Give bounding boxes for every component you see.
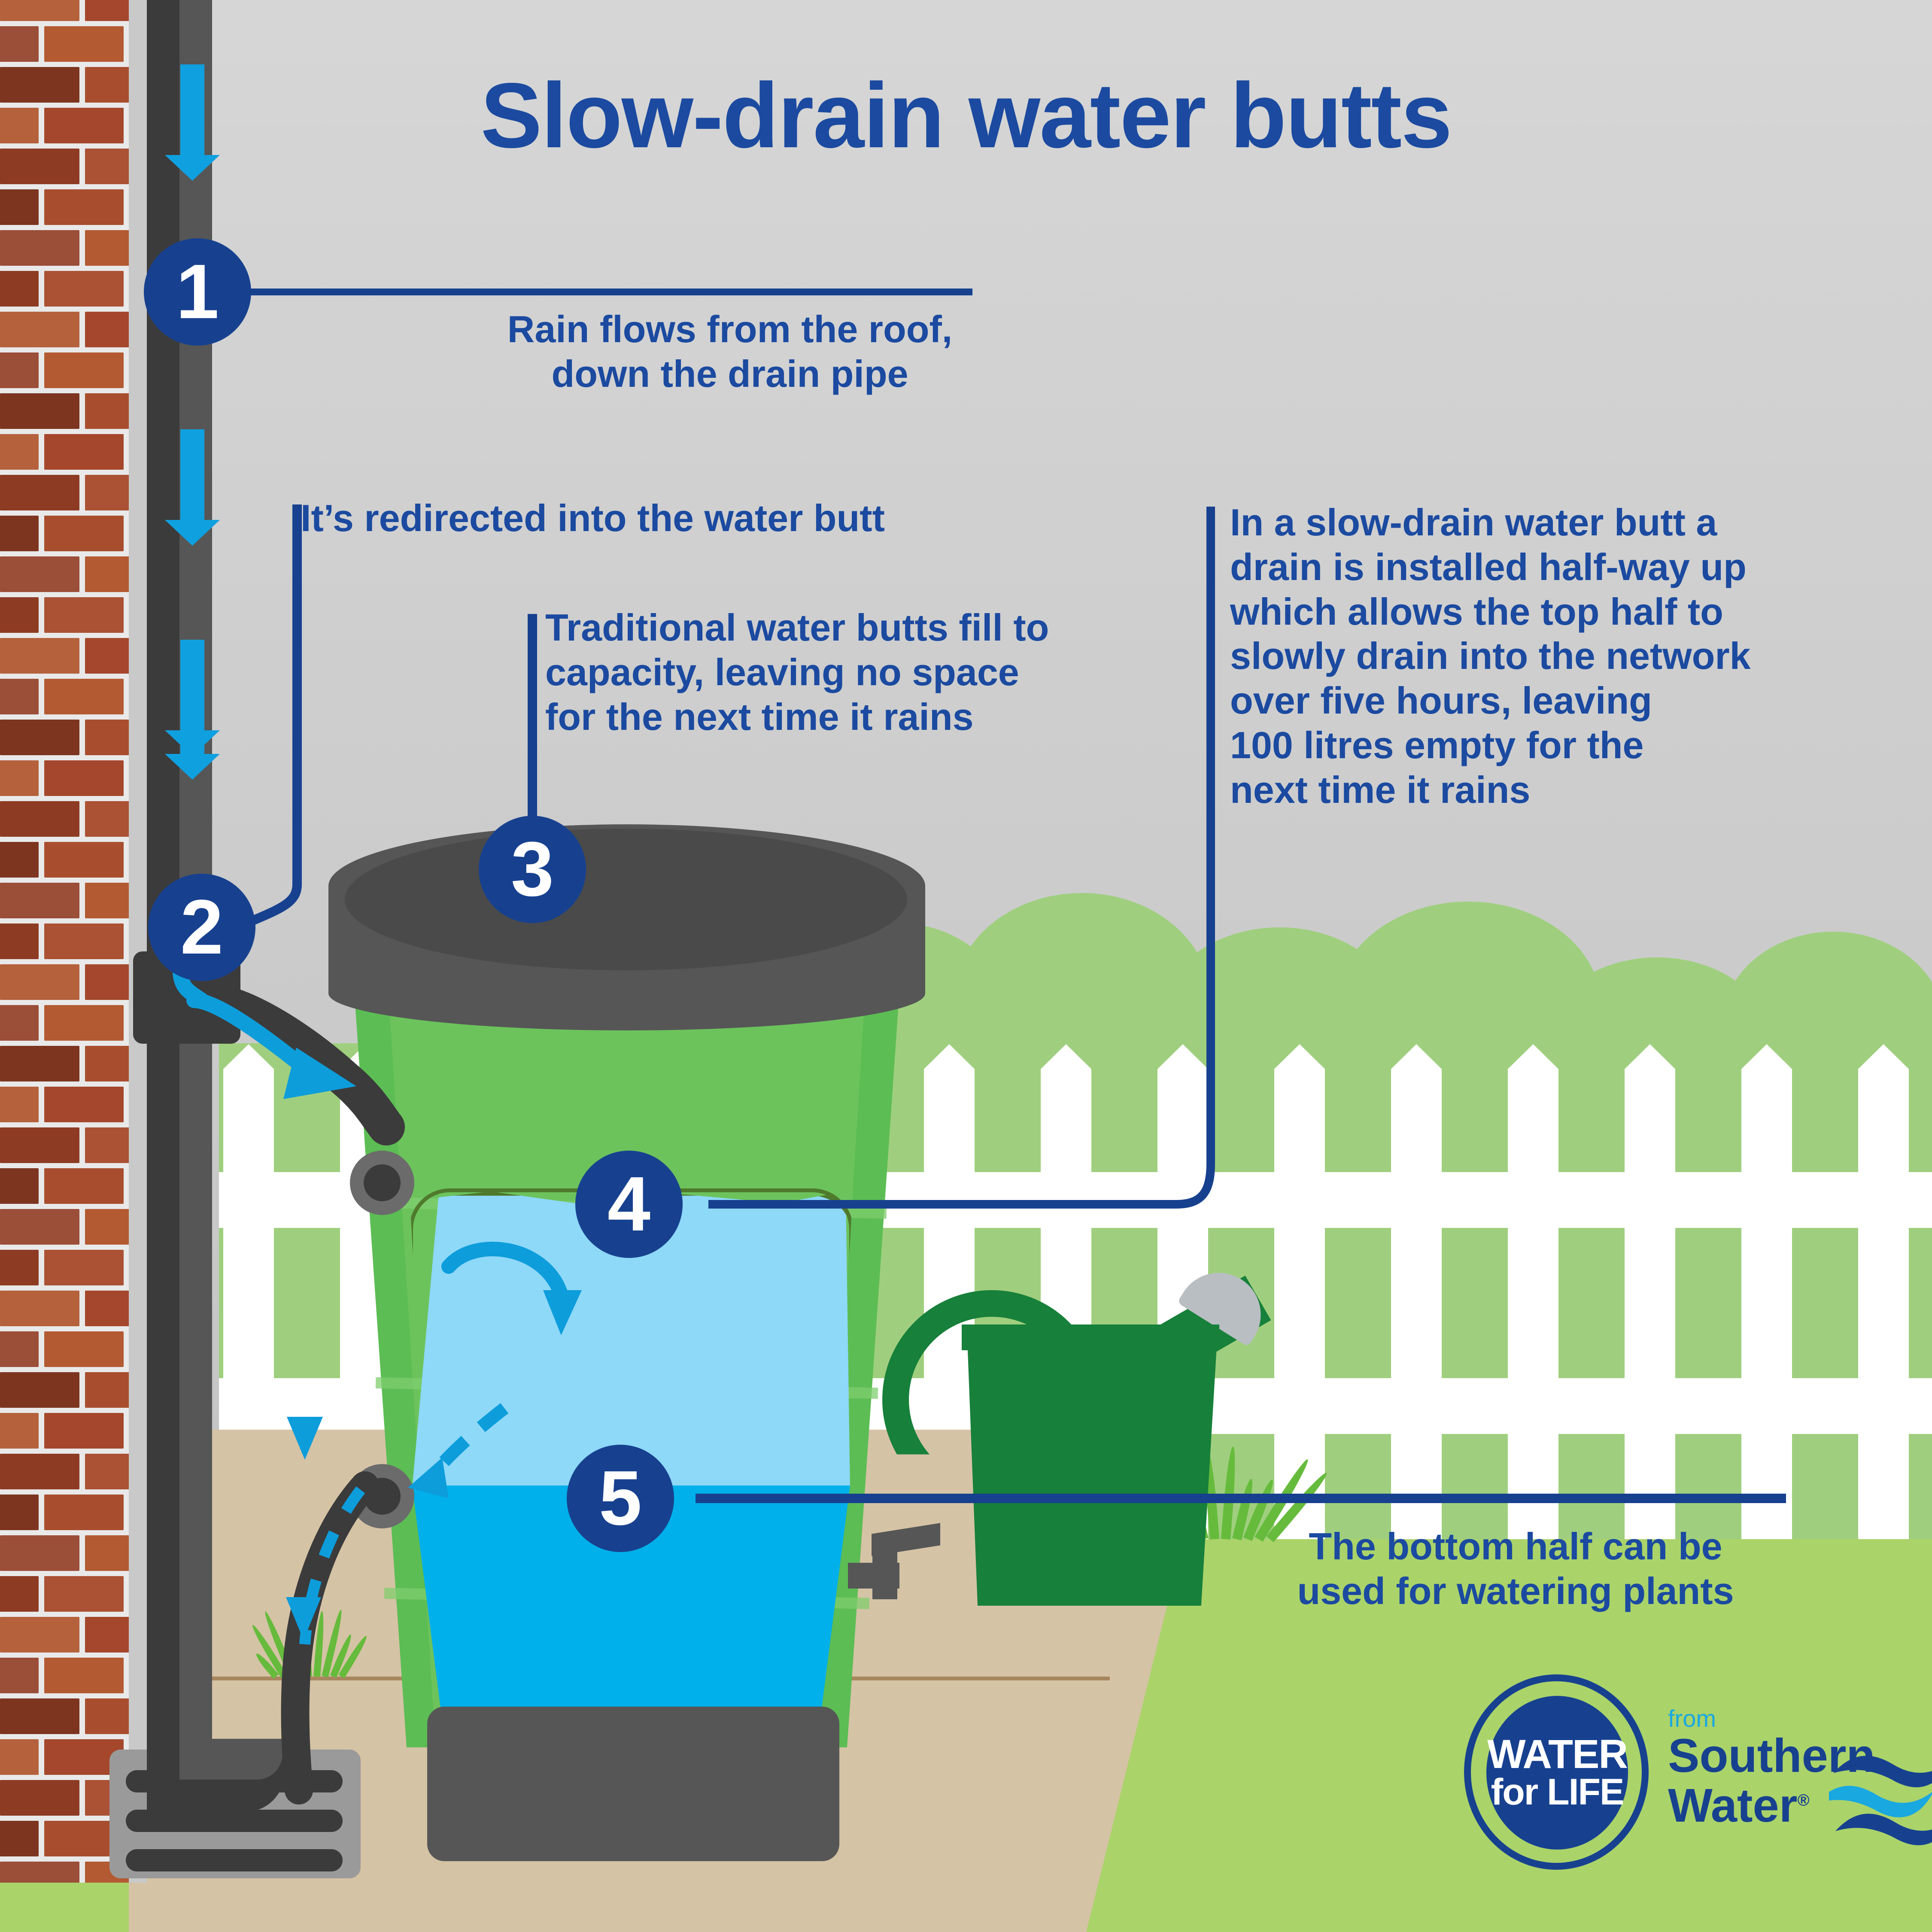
brick	[0, 1209, 79, 1245]
brick-row	[0, 554, 129, 595]
brick	[44, 1658, 124, 1693]
brick-row	[0, 1166, 129, 1206]
brick-row	[0, 1533, 129, 1574]
brick	[0, 1739, 39, 1775]
water-butt-stand	[427, 1707, 839, 1861]
brick-row	[0, 309, 129, 350]
brick	[0, 230, 79, 266]
southern-water-waves-icon	[1829, 1750, 1932, 1848]
brick	[0, 434, 39, 470]
brick-row	[0, 799, 129, 839]
brick	[44, 516, 124, 551]
step-badge-3[interactable]: 3	[479, 816, 586, 923]
brick	[0, 1250, 39, 1285]
brick	[0, 1617, 79, 1653]
brick	[85, 1127, 129, 1163]
step-badge-2[interactable]: 2	[148, 874, 255, 981]
logo-line-1: WATER	[1487, 1735, 1627, 1774]
brick-row	[0, 921, 129, 962]
callout-step-4: In a slow-drain water butt a drain is in…	[1230, 500, 1853, 812]
brick	[0, 1372, 79, 1408]
callout-step-3: Traditional water butts fill to capacity…	[545, 605, 1168, 739]
brick	[0, 26, 39, 62]
brick	[85, 0, 129, 21]
brick	[85, 964, 129, 1000]
page-title: Slow-drain water butts	[0, 62, 1932, 169]
brick	[0, 1046, 79, 1081]
brick-row	[0, 1370, 129, 1410]
brick-row	[0, 431, 129, 472]
brick-row	[0, 595, 129, 635]
logo-from-label: from	[1668, 1704, 1716, 1732]
brick	[0, 679, 39, 714]
brick-row	[0, 1125, 129, 1166]
brick	[0, 1658, 39, 1693]
brick	[0, 1535, 79, 1571]
brick	[0, 1087, 39, 1122]
brick	[0, 1331, 39, 1367]
brick-row	[0, 0, 129, 24]
step-badge-5[interactable]: 5	[567, 1445, 674, 1552]
brick-row	[0, 839, 129, 880]
brick	[0, 964, 79, 1000]
brick-row	[0, 1492, 129, 1533]
brick-row	[0, 1288, 129, 1329]
brick	[0, 1168, 39, 1204]
brick	[44, 1331, 124, 1367]
brick	[0, 556, 79, 592]
brick	[44, 26, 124, 62]
brick-row	[0, 391, 129, 431]
callout-step-1: Rain flows from the roof, down the drain…	[429, 307, 1030, 396]
brick	[0, 1576, 39, 1612]
brick	[0, 1291, 79, 1326]
brick	[85, 475, 129, 510]
brick	[0, 597, 39, 633]
brick-row	[0, 1614, 129, 1655]
brick-row	[0, 962, 129, 1002]
brick	[0, 1005, 39, 1041]
brick	[44, 352, 124, 388]
brick-row	[0, 1410, 129, 1451]
brick	[44, 1168, 124, 1204]
infographic-canvas: Slow-drain water butts 1 2 3 4 5 Rain fl…	[0, 0, 1932, 1932]
brick	[0, 352, 39, 388]
brick-row	[0, 758, 129, 799]
brick	[0, 638, 79, 674]
brick	[44, 760, 124, 796]
brick	[85, 1372, 129, 1408]
brick	[0, 1454, 79, 1489]
brick	[0, 1127, 79, 1163]
callout-step-2: It’s redirected into the water butt	[301, 496, 1030, 541]
brick	[85, 393, 129, 429]
callout-step-5: The bottom half can be used for watering…	[1236, 1524, 1795, 1613]
logo[interactable]: WATER for LIFE from Southern Water®	[1460, 1674, 1889, 1872]
brick	[85, 312, 129, 347]
brick	[0, 189, 39, 225]
brick	[44, 1087, 124, 1122]
brick-row	[0, 187, 129, 228]
rain-arrow-icon-4	[180, 704, 204, 756]
brick	[0, 1821, 39, 1856]
brick	[44, 1576, 124, 1612]
logo-line-2: for LIFE	[1491, 1774, 1624, 1810]
brick-row	[0, 1206, 129, 1247]
brick	[0, 760, 39, 796]
brick	[0, 842, 39, 878]
brick-row	[0, 1655, 129, 1696]
fence-picket	[1625, 1069, 1675, 1541]
step-badge-4[interactable]: 4	[575, 1151, 683, 1258]
wall-shadow	[129, 0, 147, 1883]
brick	[85, 1454, 129, 1489]
fence-picket	[1391, 1069, 1442, 1541]
brick	[0, 0, 79, 21]
brick	[44, 842, 124, 878]
fence-picket	[1508, 1069, 1558, 1541]
brick	[0, 1495, 39, 1530]
logo-company-line-2: Water	[1668, 1779, 1798, 1832]
brick	[44, 597, 124, 633]
brick	[0, 475, 79, 510]
brick-row	[0, 676, 129, 717]
brick	[85, 230, 129, 266]
brick-row	[0, 1574, 129, 1614]
brick-row	[0, 1696, 129, 1737]
brick	[85, 1535, 129, 1571]
brick-row	[0, 24, 129, 64]
step-badge-1[interactable]: 1	[144, 238, 251, 346]
brick	[85, 638, 129, 674]
brick	[44, 1250, 124, 1285]
brick-row	[0, 1084, 129, 1125]
brick	[0, 1862, 79, 1883]
brick-row	[0, 880, 129, 921]
brick-row	[0, 635, 129, 676]
brick	[85, 801, 129, 837]
brick	[44, 271, 124, 307]
brick	[44, 1495, 124, 1530]
water-butt	[320, 824, 934, 1855]
brick	[44, 1413, 124, 1449]
brick	[0, 1698, 79, 1734]
brick	[85, 1291, 129, 1326]
brick-row	[0, 1002, 129, 1043]
brick-row	[0, 268, 129, 309]
brick	[0, 1413, 39, 1449]
brick	[44, 679, 124, 714]
brick	[0, 271, 39, 307]
brick	[85, 720, 129, 755]
brick	[0, 801, 79, 837]
brick-row	[0, 1451, 129, 1492]
brick	[0, 923, 39, 959]
brick	[0, 883, 79, 918]
brick	[0, 393, 79, 429]
fence-picket	[1858, 1069, 1909, 1541]
brick-row	[0, 228, 129, 268]
brick	[44, 1005, 124, 1041]
brick	[0, 1780, 79, 1816]
brick	[85, 556, 129, 592]
registered-mark: ®	[1798, 1791, 1810, 1809]
brick-row	[0, 472, 129, 513]
brick-row	[0, 350, 129, 391]
brick	[85, 883, 129, 918]
brick	[0, 312, 79, 347]
brick	[85, 1617, 129, 1653]
brick-row	[0, 513, 129, 554]
logo-oval: WATER for LIFE	[1480, 1690, 1634, 1856]
brick	[44, 923, 124, 959]
brick-wall	[0, 0, 129, 1883]
brick	[85, 1698, 129, 1734]
fence-picket	[1741, 1069, 1792, 1541]
brick	[85, 1209, 129, 1245]
brick	[85, 1046, 129, 1081]
brick	[44, 189, 124, 225]
brick-row	[0, 1247, 129, 1288]
brick	[44, 434, 124, 470]
brick-row	[0, 1043, 129, 1084]
rain-arrow-icon-2	[180, 429, 204, 522]
brick	[0, 516, 39, 551]
brick	[0, 720, 79, 755]
brick-row	[0, 717, 129, 758]
brick-row	[0, 1329, 129, 1370]
